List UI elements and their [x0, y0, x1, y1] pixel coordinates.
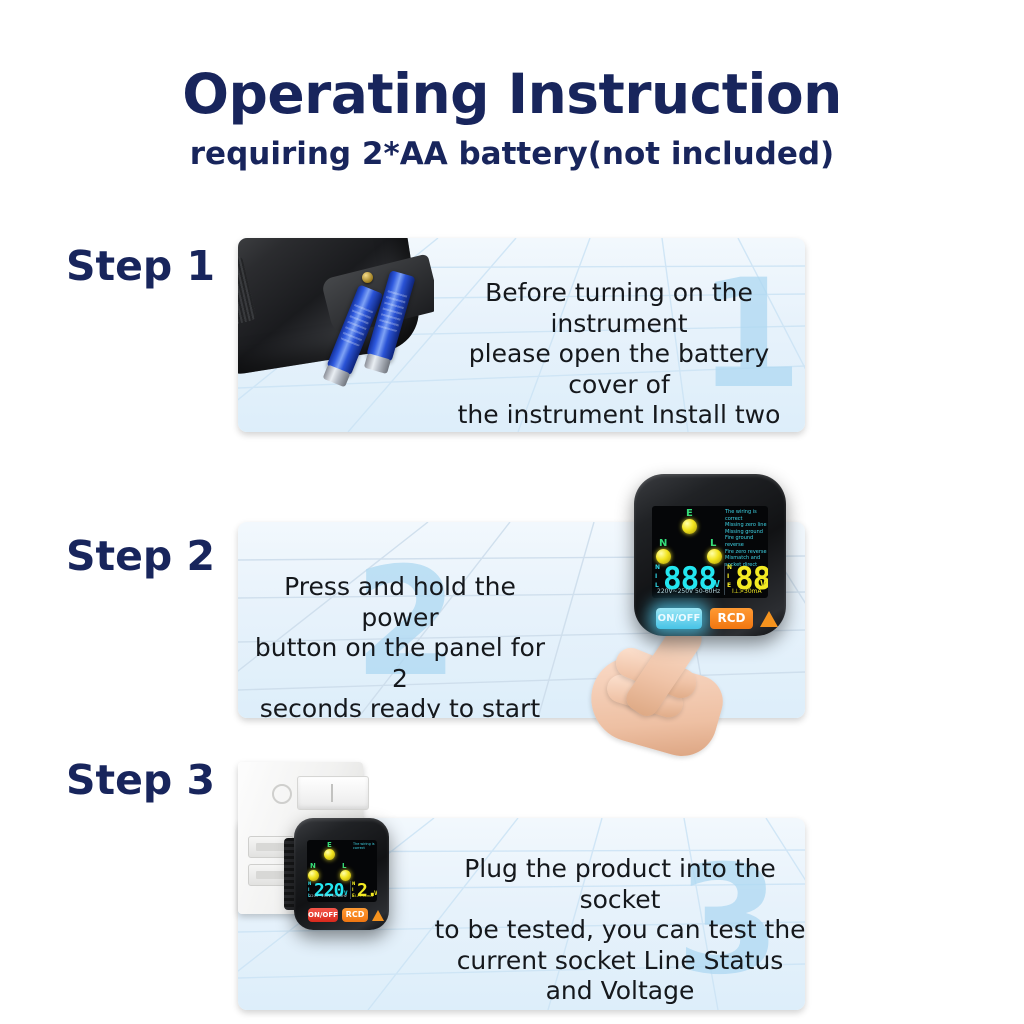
readout-label-i: I	[308, 887, 310, 892]
socket-tester-device: E N L The wiring is correct N I L 220 V …	[294, 818, 389, 930]
status-line: Fire ground reverse	[725, 535, 768, 548]
status-line: The wiring is correct	[353, 842, 377, 851]
step-2-text: Press and hold the power button on the p…	[250, 572, 550, 718]
right-readout-unit: V	[374, 890, 377, 897]
power-button[interactable]: ON/OFF	[308, 908, 338, 922]
screw-icon	[362, 272, 373, 283]
status-line: Fire zero reverse	[725, 549, 768, 556]
spec-leakage-current: I⊥>30mA	[355, 894, 373, 898]
rcd-button[interactable]: RCD	[342, 908, 368, 922]
readout-label-n: N	[308, 881, 311, 886]
socket-rocker-switch[interactable]	[297, 776, 369, 810]
lamp-label-l: L	[342, 862, 346, 870]
status-line: Missing ground	[725, 529, 768, 536]
step-1-card: 1 Before turning on the instrument pleas…	[238, 238, 805, 432]
lamp-label-n: N	[659, 538, 667, 549]
readout-label-e: E	[727, 582, 731, 589]
socket-indicator-ring	[272, 784, 292, 804]
page-title: Operating Instruction	[0, 0, 1024, 124]
rcd-button[interactable]: RCD	[710, 608, 753, 629]
device-screen: E N L The wiring is correct Missing zero…	[652, 506, 768, 598]
step-2-label: Step 2	[66, 532, 215, 580]
readout-label-n: N	[352, 881, 355, 886]
spec-voltage-range: 220V~250V 50-60Hz	[309, 894, 347, 898]
step-3-label: Step 3	[66, 756, 215, 804]
lamp-label-e: E	[327, 841, 332, 849]
spec-leakage-current: I⊥>30mA	[732, 588, 762, 595]
lamp-label-n: N	[310, 862, 316, 870]
page-header: Operating Instruction requiring 2*AA bat…	[0, 0, 1024, 172]
readout-label-i: I	[727, 573, 729, 580]
lamp-label-l: L	[710, 538, 716, 549]
lamp-label-e: E	[686, 508, 693, 519]
spec-voltage-range: 220V~250V 50-60Hz	[657, 588, 720, 595]
lamp-e	[682, 519, 697, 534]
page-subtitle: requiring 2*AA battery(not included)	[0, 124, 1024, 172]
warning-triangle-icon	[760, 611, 778, 627]
readout-label-n: N	[727, 564, 732, 571]
device-screen: E N L The wiring is correct N I L 220 V …	[307, 840, 377, 902]
step-3-text: Plug the product into the socket to be t…	[434, 854, 805, 1007]
lamp-e	[324, 849, 335, 860]
status-line: The wiring is correct	[725, 509, 768, 522]
step-1-text: Before turning on the instrument please …	[434, 278, 804, 432]
readout-label-i: I	[352, 887, 354, 892]
status-list: The wiring is correct Missing zero line …	[725, 509, 768, 568]
battery-install-photo	[238, 238, 434, 388]
readout-label-i: I	[655, 573, 657, 580]
step-1-label: Step 1	[66, 242, 215, 290]
socket-tester-device: E N L The wiring is correct Missing zero…	[634, 474, 786, 636]
warning-triangle-icon	[372, 910, 384, 921]
readout-label-n: N	[655, 564, 660, 571]
power-button[interactable]: ON/OFF	[656, 608, 702, 629]
status-line: Missing zero line	[725, 522, 768, 529]
